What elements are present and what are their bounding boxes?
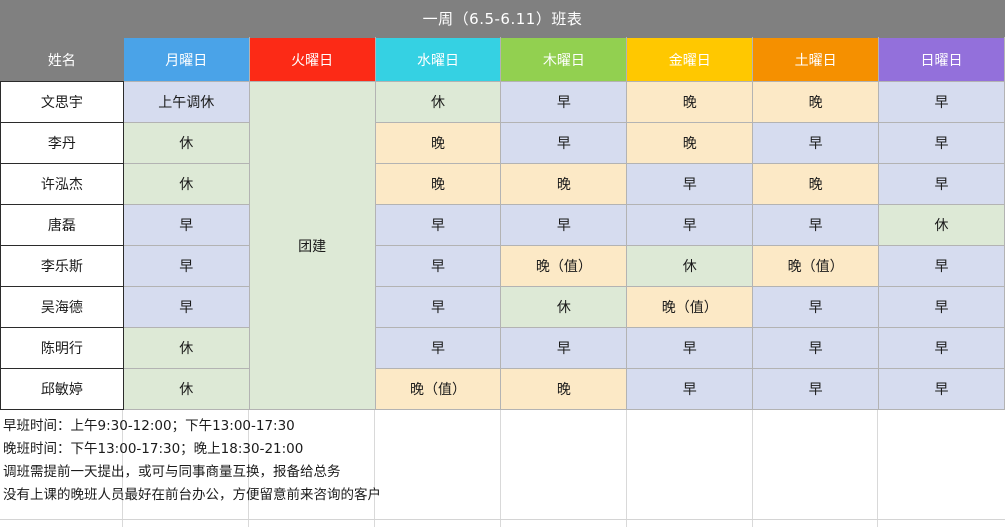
note-line-evening-shift: 晚班时间：下午13:00-17:30；晚上18:30-21:00 [3, 438, 703, 461]
cell-shift-sunday[interactable]: 早 [879, 287, 1005, 328]
footer-notes: 早班时间：上午9:30-12:00；下午13:00-17:30 晚班时间：下午1… [3, 415, 703, 507]
cell-shift-wednesday[interactable]: 早 [375, 246, 501, 287]
cell-employee-name[interactable]: 邱敏婷 [1, 369, 124, 410]
cell-shift-wednesday[interactable]: 早 [375, 328, 501, 369]
table-row: 许泓杰休晚晚早晚早 [1, 164, 1005, 205]
cell-shift-sunday[interactable]: 早 [879, 369, 1005, 410]
cell-shift-sunday[interactable]: 休 [879, 205, 1005, 246]
cell-shift-saturday[interactable]: 早 [753, 328, 879, 369]
table-row: 吴海德早早休晚（值）早早 [1, 287, 1005, 328]
cell-shift-thursday[interactable]: 早 [501, 205, 627, 246]
table-header-row: 姓名 月曜日 火曜日 水曜日 木曜日 金曜日 土曜日 日曜日 [1, 38, 1005, 82]
cell-shift-wednesday[interactable]: 休 [375, 82, 501, 123]
cell-shift-friday[interactable]: 早 [627, 164, 753, 205]
cell-shift-monday[interactable]: 休 [123, 164, 249, 205]
cell-shift-friday[interactable]: 晚 [627, 123, 753, 164]
cell-shift-saturday[interactable]: 晚 [753, 82, 879, 123]
cell-shift-friday[interactable]: 晚（值） [627, 287, 753, 328]
cell-shift-sunday[interactable]: 早 [879, 246, 1005, 287]
cell-shift-monday[interactable]: 休 [123, 369, 249, 410]
grid-hline [0, 519, 1005, 520]
cell-shift-sunday[interactable]: 早 [879, 123, 1005, 164]
cell-shift-monday[interactable]: 早 [123, 246, 249, 287]
cell-shift-friday[interactable]: 早 [627, 328, 753, 369]
cell-shift-thursday[interactable]: 休 [501, 287, 627, 328]
column-header-tuesday: 火曜日 [249, 38, 375, 82]
column-header-monday: 月曜日 [123, 38, 249, 82]
cell-shift-sunday[interactable]: 早 [879, 164, 1005, 205]
cell-shift-wednesday[interactable]: 早 [375, 205, 501, 246]
cell-shift-saturday[interactable]: 早 [753, 369, 879, 410]
cell-shift-friday[interactable]: 早 [627, 369, 753, 410]
note-line-morning-shift: 早班时间：上午9:30-12:00；下午13:00-17:30 [3, 415, 703, 438]
cell-shift-wednesday[interactable]: 晚（值） [375, 369, 501, 410]
cell-shift-friday[interactable]: 晚 [627, 82, 753, 123]
table-row: 陈明行休早早早早早 [1, 328, 1005, 369]
cell-shift-thursday[interactable]: 晚 [501, 164, 627, 205]
cell-employee-name[interactable]: 李丹 [1, 123, 124, 164]
column-header-sunday: 日曜日 [879, 38, 1005, 82]
column-header-thursday: 木曜日 [501, 38, 627, 82]
cell-employee-name[interactable]: 唐磊 [1, 205, 124, 246]
cell-shift-saturday[interactable]: 晚（值） [753, 246, 879, 287]
spreadsheet-sheet: 一周（6.5-6.11）班表 姓名 月曜日 火曜日 水曜日 木曜日 金曜日 土曜… [0, 0, 1005, 527]
cell-shift-saturday[interactable]: 早 [753, 123, 879, 164]
cell-employee-name[interactable]: 许泓杰 [1, 164, 124, 205]
cell-shift-monday[interactable]: 休 [123, 328, 249, 369]
cell-shift-monday[interactable]: 早 [123, 287, 249, 328]
cell-shift-monday[interactable]: 上午调休 [123, 82, 249, 123]
column-header-wednesday: 水曜日 [375, 38, 501, 82]
cell-shift-wednesday[interactable]: 早 [375, 287, 501, 328]
cell-employee-name[interactable]: 陈明行 [1, 328, 124, 369]
cell-shift-monday[interactable]: 休 [123, 123, 249, 164]
cell-shift-saturday[interactable]: 早 [753, 205, 879, 246]
cell-shift-thursday[interactable]: 晚（值） [501, 246, 627, 287]
cell-shift-thursday[interactable]: 早 [501, 82, 627, 123]
column-header-friday: 金曜日 [627, 38, 753, 82]
cell-shift-saturday[interactable]: 晚 [753, 164, 879, 205]
cell-merged-team-building[interactable]: 团建 [249, 82, 375, 410]
cell-shift-wednesday[interactable]: 晚 [375, 123, 501, 164]
cell-shift-monday[interactable]: 早 [123, 205, 249, 246]
cell-employee-name[interactable]: 李乐斯 [1, 246, 124, 287]
note-line-swap-policy: 调班需提前一天提出，或可与同事商量互换，报备给总务 [3, 461, 703, 484]
cell-shift-thursday[interactable]: 早 [501, 123, 627, 164]
cell-shift-thursday[interactable]: 晚 [501, 369, 627, 410]
table-row: 李丹休晚早晚早早 [1, 123, 1005, 164]
cell-shift-friday[interactable]: 早 [627, 205, 753, 246]
table-row: 邱敏婷休晚（值）晚早早早 [1, 369, 1005, 410]
schedule-body: 文思宇上午调休团建休早晚晚早李丹休晚早晚早早许泓杰休晚晚早晚早唐磊早早早早早休李… [1, 82, 1005, 410]
table-row: 李乐斯早早晚（值）休晚（值）早 [1, 246, 1005, 287]
table-row: 唐磊早早早早早休 [1, 205, 1005, 246]
cell-shift-sunday[interactable]: 早 [879, 82, 1005, 123]
cell-shift-wednesday[interactable]: 晚 [375, 164, 501, 205]
cell-employee-name[interactable]: 文思宇 [1, 82, 124, 123]
cell-shift-thursday[interactable]: 早 [501, 328, 627, 369]
cell-employee-name[interactable]: 吴海德 [1, 287, 124, 328]
cell-shift-sunday[interactable]: 早 [879, 328, 1005, 369]
cell-shift-saturday[interactable]: 早 [753, 287, 879, 328]
cell-shift-friday[interactable]: 休 [627, 246, 753, 287]
page-title: 一周（6.5-6.11）班表 [0, 0, 1005, 37]
table-row: 文思宇上午调休团建休早晚晚早 [1, 82, 1005, 123]
column-header-name: 姓名 [1, 38, 124, 82]
column-header-saturday: 土曜日 [753, 38, 879, 82]
note-line-frontdesk: 没有上课的晚班人员最好在前台办公，方便留意前来咨询的客户 [3, 484, 703, 507]
schedule-table: 姓名 月曜日 火曜日 水曜日 木曜日 金曜日 土曜日 日曜日 文思宇上午调休团建… [0, 37, 1005, 410]
